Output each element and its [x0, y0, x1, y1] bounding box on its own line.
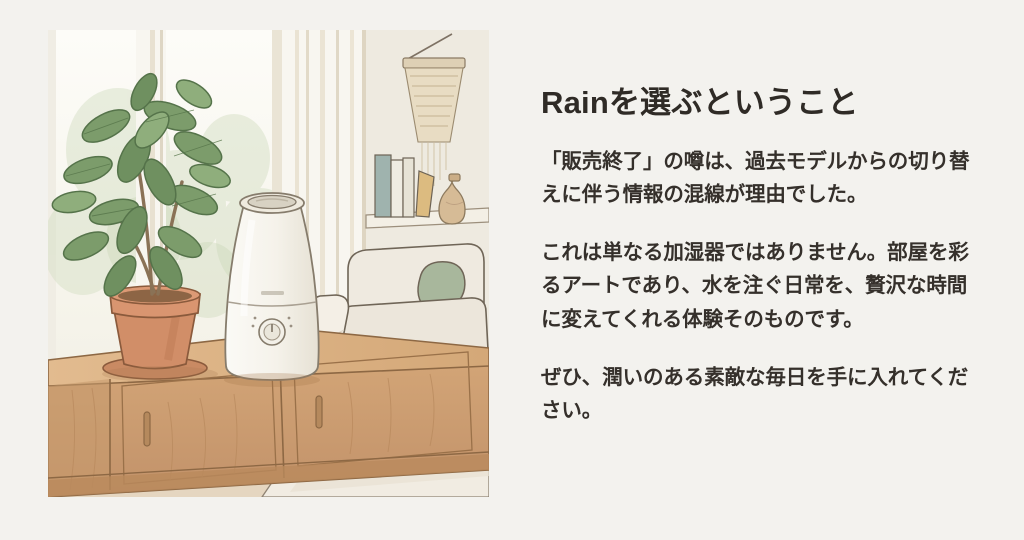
paragraph-1: 「販売終了」の噂は、過去モデルからの切り替えに伴う情報の混線が理由でした。 — [541, 145, 971, 211]
humidifier-shadow — [224, 373, 320, 387]
humidifier-body — [225, 196, 318, 380]
terracotta-pot — [114, 310, 196, 369]
paragraph-2: これは単なる加湿器ではありません。部屋を彩るアートであり、水を注ぐ日常を、贅沢な… — [541, 236, 971, 336]
body-copy: 「販売終了」の噂は、過去モデルからの切り替えに伴う情報の混線が理由でした。 これ… — [541, 145, 971, 427]
text-column: Rainを選ぶということ 「販売終了」の噂は、過去モデルからの切り替えに伴う情報… — [541, 84, 971, 427]
paragraph-3: ぜひ、潤いのある素敵な毎日を手に入れてください。 — [541, 361, 971, 427]
room-illustration — [48, 30, 489, 497]
page-title: Rainを選ぶということ — [541, 84, 971, 123]
plant-shadow — [102, 366, 218, 382]
cabinet-handle-right — [316, 396, 322, 428]
slide-root: Rainを選ぶということ 「販売終了」の噂は、過去モデルからの切り替えに伴う情報… — [0, 0, 1024, 540]
cabinet-handle-left — [144, 412, 150, 446]
brand-label — [261, 291, 284, 295]
